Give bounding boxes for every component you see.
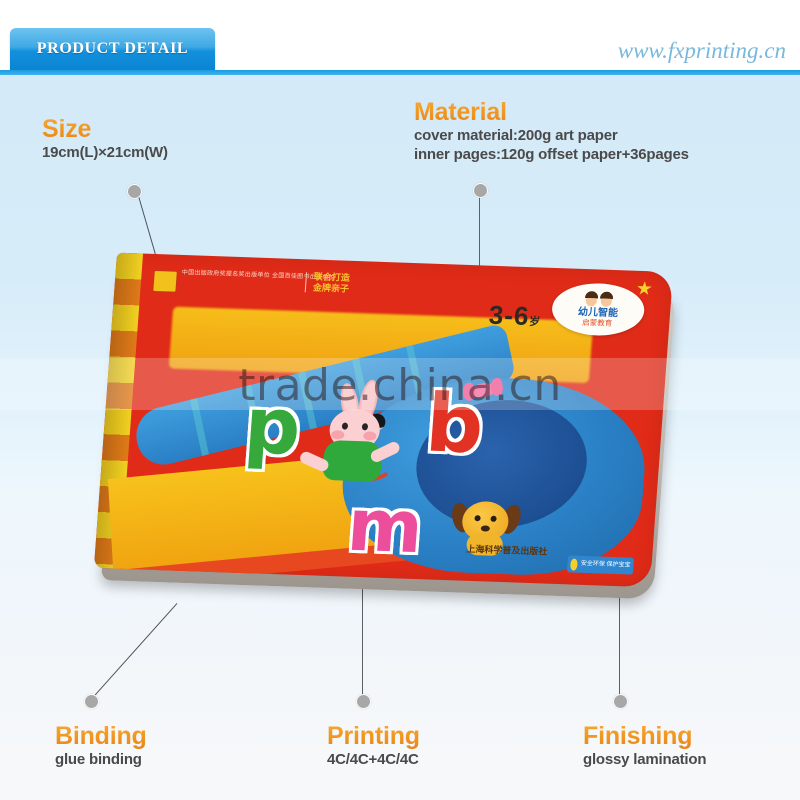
- publisher-text: 中国出版政府奖提名奖出版单位 全国百佳图书出版单位: [181, 269, 335, 283]
- safety-icon: [570, 558, 578, 570]
- leader-dot-size: [127, 184, 142, 199]
- leader-dot-material: [473, 183, 488, 198]
- callout-printing-title: Printing: [327, 722, 420, 750]
- product-detail-page: PRODUCT DETAIL www.fxprinting.cn: [0, 0, 800, 800]
- callout-size: Size 19cm(L)×21cm(W): [42, 115, 168, 162]
- callout-size-title: Size: [42, 115, 168, 143]
- callout-material: Material cover material:200g art paper i…: [414, 98, 689, 164]
- bottom-publisher-text: 上海科学普及出版社: [466, 542, 548, 558]
- product-photo: p m b 中国出版政府奖提名奖出版单位 全国百佳图书出版单位 联合打造 金牌亲…: [105, 262, 695, 612]
- board-book: p m b 中国出版政府奖提名奖出版单位 全国百佳图书出版单位 联合打造 金牌亲…: [93, 253, 677, 602]
- callout-binding-line-1: glue binding: [55, 750, 147, 769]
- page-header: PRODUCT DETAIL www.fxprinting.cn: [0, 0, 800, 82]
- callout-size-line-1: 19cm(L)×21cm(W): [42, 143, 168, 162]
- callout-binding: Binding glue binding: [55, 722, 147, 769]
- leader-dot-printing: [356, 694, 371, 709]
- badge-line-2: 启蒙教育: [582, 318, 613, 328]
- safety-label-text: 安全环保 保护宝宝: [581, 561, 631, 570]
- callout-finishing: Finishing glossy lamination: [583, 722, 706, 769]
- watermark-text: trade.china.cn: [0, 356, 800, 414]
- callout-material-line-1: cover material:200g art paper: [414, 126, 689, 145]
- callout-material-line-2: inner pages:120g offset paper+36pages: [414, 145, 689, 164]
- cover-age-label: 3-6岁: [488, 300, 543, 333]
- kids-icon: [584, 291, 613, 307]
- publisher-logo-icon: [152, 270, 178, 293]
- cover-slogan: 联合打造 金牌亲子: [313, 272, 351, 295]
- callout-printing-line-1: 4C/4C+4C/4C: [327, 750, 420, 769]
- callout-finishing-line-1: glossy lamination: [583, 750, 706, 769]
- leader-dot-binding: [84, 694, 99, 709]
- product-detail-tab-label: PRODUCT DETAIL: [37, 40, 188, 58]
- callout-material-title: Material: [414, 98, 689, 126]
- callout-printing: Printing 4C/4C+4C/4C: [327, 722, 420, 769]
- leader-dot-finishing: [613, 694, 628, 709]
- callout-binding-title: Binding: [55, 722, 147, 750]
- site-url-text: www.fxprinting.cn: [618, 38, 786, 64]
- star-icon: [636, 281, 652, 296]
- book-cover: p m b 中国出版政府奖提名奖出版单位 全国百佳图书出版单位 联合打造 金牌亲…: [94, 253, 673, 588]
- callout-finishing-title: Finishing: [583, 722, 706, 750]
- product-detail-tab[interactable]: PRODUCT DETAIL: [10, 28, 215, 70]
- safety-label: 安全环保 保护宝宝: [567, 555, 634, 574]
- cover-letter-m: m: [345, 489, 425, 563]
